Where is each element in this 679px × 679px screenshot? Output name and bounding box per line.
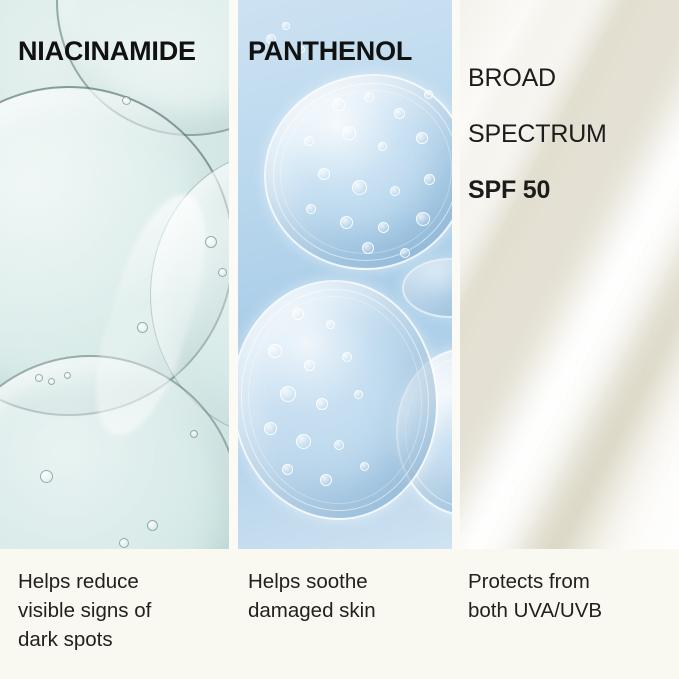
air-bubble	[334, 440, 344, 450]
air-bubble	[280, 386, 296, 402]
air-bubble	[320, 474, 332, 486]
droplet-rim-inner	[280, 90, 452, 254]
air-bubble	[400, 248, 410, 258]
air-bubble	[292, 308, 304, 320]
heading-broad-spectrum: BROAD SPECTRUM SPF 50	[468, 36, 607, 232]
air-bubble	[390, 186, 400, 196]
air-bubble	[424, 174, 435, 185]
air-bubble	[416, 132, 428, 144]
heading-broad-spectrum-line-2: SPECTRUM	[468, 120, 607, 148]
air-bubble	[352, 180, 367, 195]
air-bubble	[268, 344, 282, 358]
gel-microbubble	[35, 374, 43, 382]
caption-niacinamide: Helps reduce visible signs of dark spots	[18, 567, 223, 654]
water-droplet-upper	[264, 74, 452, 270]
air-bubble	[416, 212, 430, 226]
panel-niacinamide-image	[0, 0, 229, 549]
gel-microbubble	[64, 372, 71, 379]
gel-microbubble	[48, 378, 55, 385]
air-bubble	[304, 360, 315, 371]
product-benefits-infographic: NIACINAMIDE PANTHENOL BROAD SPECTRUM SPF…	[0, 0, 679, 679]
gel-microbubble	[218, 268, 227, 277]
gel-microbubble	[190, 430, 198, 438]
air-bubble	[362, 242, 374, 254]
air-bubble	[318, 168, 330, 180]
caption-panthenol: Helps soothe damaged skin	[248, 567, 448, 625]
gel-microbubble	[122, 96, 131, 105]
heading-panthenol: PANTHENOL	[248, 36, 412, 66]
water-droplet-lower	[238, 280, 438, 520]
air-bubble	[360, 462, 369, 471]
gel-microbubble	[205, 236, 217, 248]
panel-divider-1	[229, 0, 238, 549]
air-bubble	[342, 352, 352, 362]
gel-microbubble	[40, 470, 53, 483]
caption-band: Helps reduce visible signs of dark spots…	[0, 549, 679, 679]
air-bubble	[326, 320, 335, 329]
air-bubble	[340, 216, 353, 229]
panel-panthenol-image	[238, 0, 452, 549]
air-bubble	[378, 222, 389, 233]
panel-divider-2	[452, 0, 460, 549]
gel-microbubble	[137, 322, 148, 333]
air-bubble	[364, 92, 374, 102]
droplet-texture-layer	[238, 0, 452, 549]
air-bubble	[306, 204, 316, 214]
air-bubble	[354, 390, 363, 399]
air-bubble	[342, 126, 356, 140]
caption-broad-spectrum: Protects from both UVA/UVB	[468, 567, 673, 625]
air-bubble	[378, 142, 387, 151]
air-bubble-floating	[424, 90, 433, 99]
air-bubble	[296, 434, 311, 449]
heading-spf-value: SPF 50	[468, 176, 607, 204]
air-bubble	[394, 108, 405, 119]
gel-microbubble	[119, 538, 129, 548]
air-bubble-floating	[282, 22, 290, 30]
heading-broad-spectrum-line-1: BROAD	[468, 64, 607, 92]
air-bubble	[282, 464, 293, 475]
air-bubble	[332, 98, 345, 111]
gel-microbubble	[147, 520, 158, 531]
heading-niacinamide: NIACINAMIDE	[18, 36, 196, 66]
water-droplet-small-top	[402, 258, 452, 318]
gel-texture-layer	[0, 0, 229, 549]
droplet-rim-inner	[248, 296, 422, 504]
air-bubble	[316, 398, 328, 410]
air-bubble	[304, 136, 314, 146]
air-bubble	[264, 422, 277, 435]
